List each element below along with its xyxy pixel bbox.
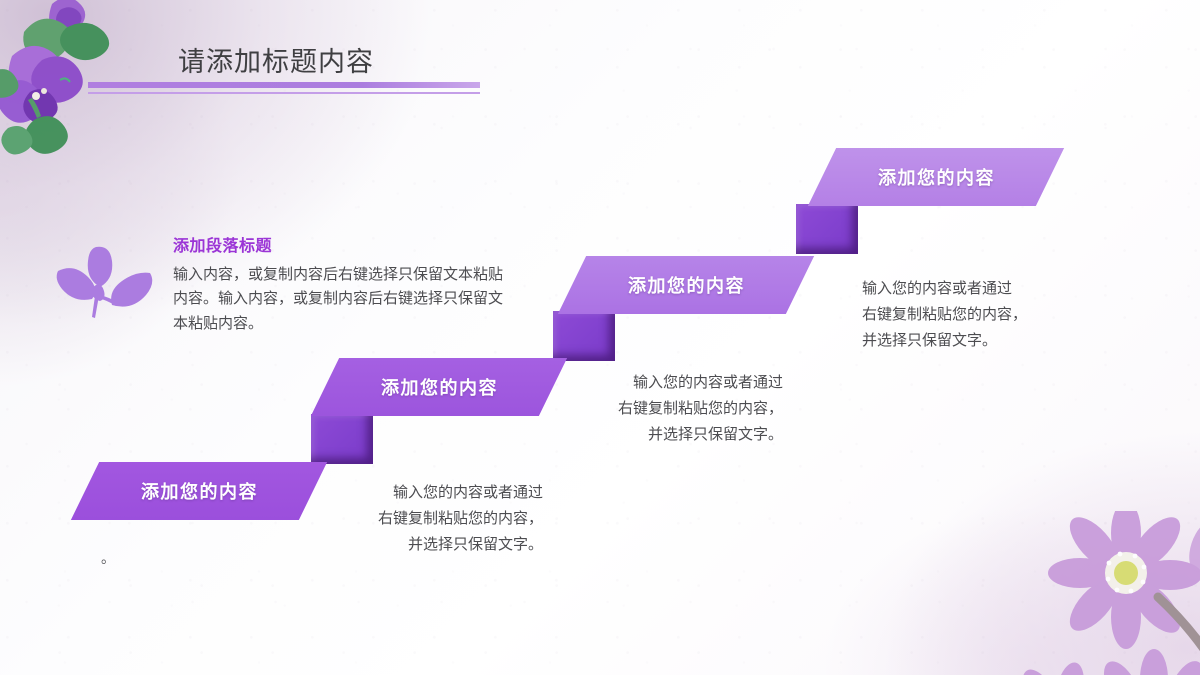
title-rule-thick	[88, 82, 480, 88]
leaf-sprig-icon	[52, 243, 156, 321]
title-rule-thin	[88, 92, 480, 94]
step-description-3: 输入您的内容或者通过 右键复制粘贴您的内容， 并选择只保留文字。	[862, 276, 1067, 353]
step-banner-label-2: 添加您的内容	[381, 374, 498, 400]
step-banner-1[interactable]: 添加您的内容	[71, 462, 327, 520]
step-riser-1	[311, 414, 373, 464]
step-riser-2	[553, 311, 615, 361]
lead-paragraph-block: 添加段落标题 输入内容，或复制内容后右键选择只保留文本粘贴内容。输入内容，或复制…	[173, 232, 513, 336]
step-description-2: 输入您的内容或者通过 右键复制粘贴您的内容， 并选择只保留文字。	[600, 370, 783, 447]
step-banner-label-1: 添加您的内容	[141, 478, 258, 504]
page-title: 请添加标题内容	[178, 40, 374, 79]
step-banner-4[interactable]: 添加您的内容	[808, 148, 1064, 206]
lead-heading: 添加段落标题	[173, 232, 513, 256]
lead-body: 输入内容，或复制内容后右键选择只保留文本粘贴内容。输入内容，或复制内容后右键选择…	[173, 263, 513, 336]
step-banner-label-3: 添加您的内容	[628, 272, 745, 298]
step-banner-2[interactable]: 添加您的内容	[311, 358, 567, 416]
violet-flowers-icon	[0, 0, 140, 178]
step-description-1: 输入您的内容或者通过 右键复制粘贴您的内容， 并选择只保留文字。	[348, 480, 543, 557]
stray-punctuation-mark: 。	[101, 548, 115, 568]
slide-canvas: 请添加标题内容 添加段落标题 输入内容，或复制内容后右键选择只保留文本粘贴内容。…	[0, 0, 1200, 675]
step-banner-3[interactable]: 添加您的内容	[558, 256, 814, 314]
anemone-flower-icon	[1008, 511, 1200, 675]
step-riser-3	[796, 204, 858, 254]
step-banner-label-4: 添加您的内容	[878, 164, 995, 190]
